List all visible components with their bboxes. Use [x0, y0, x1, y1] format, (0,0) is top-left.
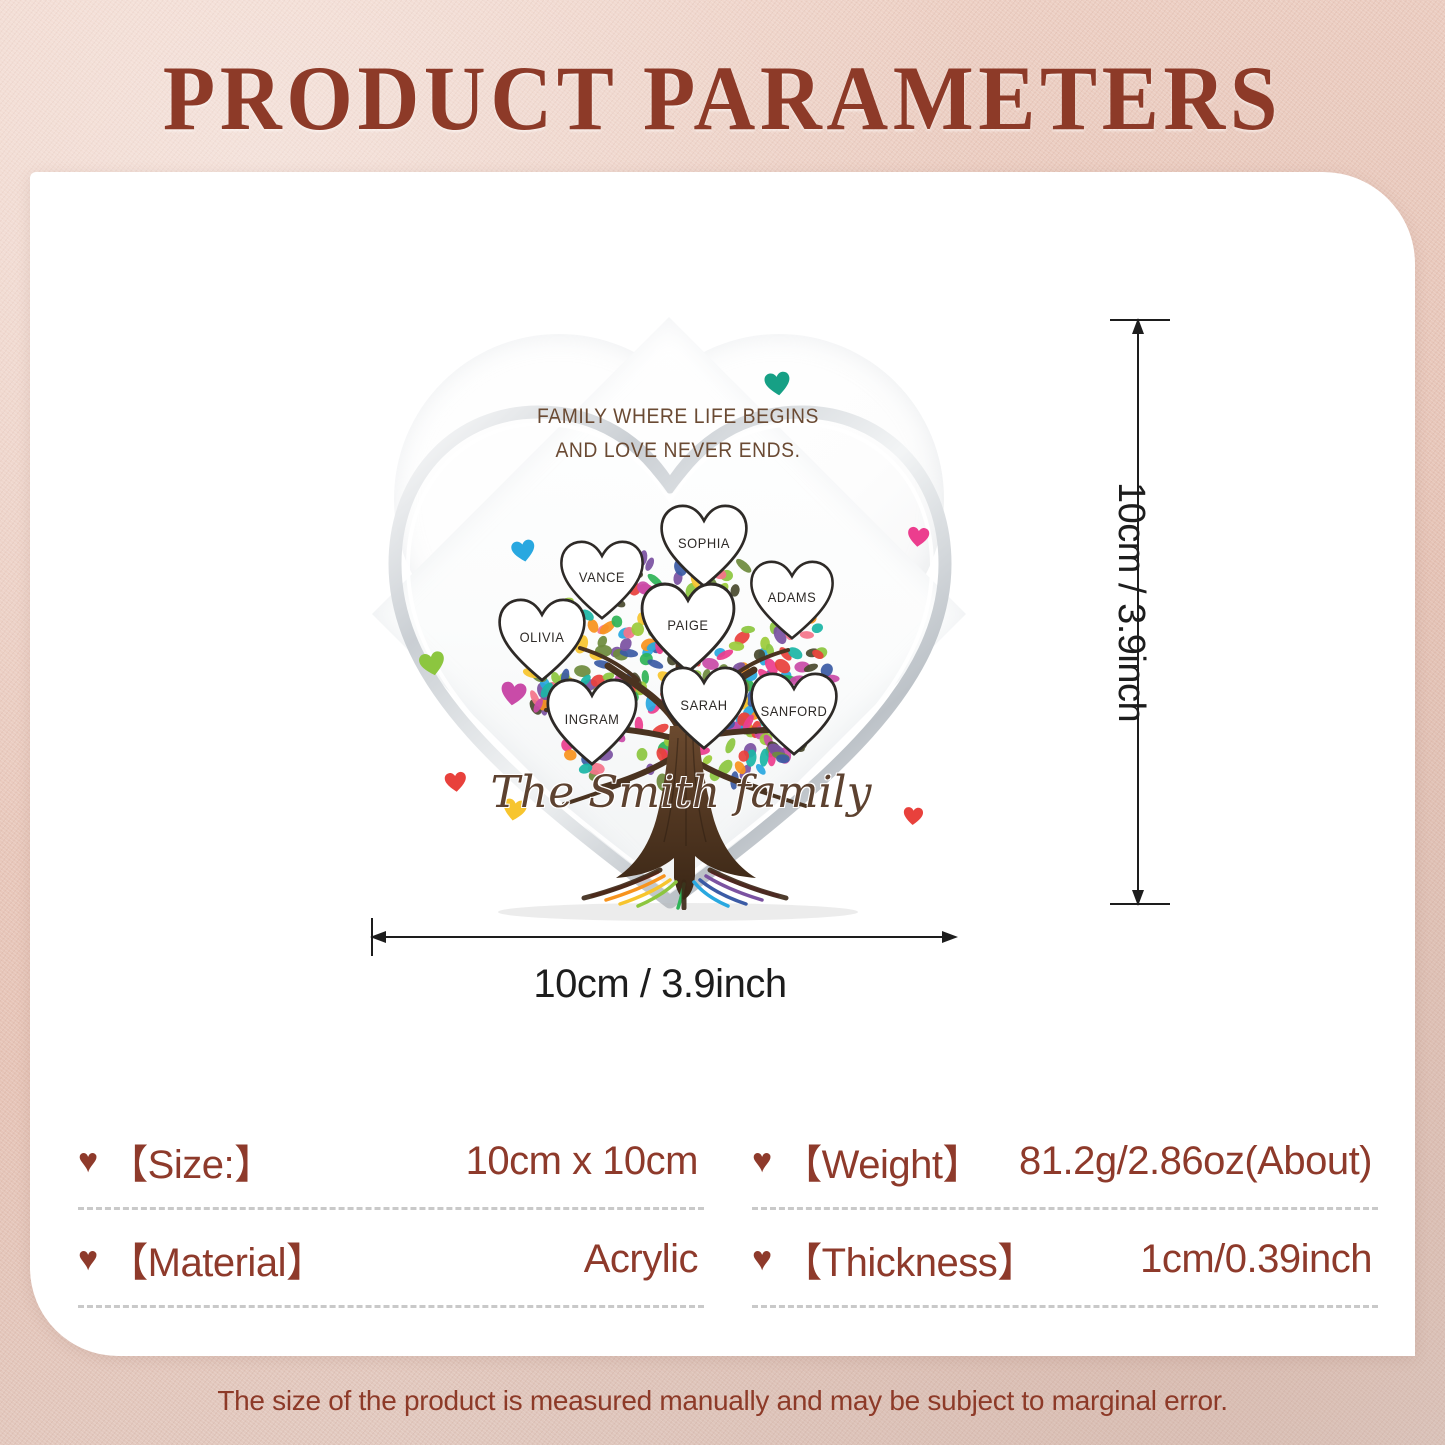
- spec-row: ♥【Weight】81.2g/2.86oz(About): [752, 1112, 1378, 1210]
- heart-bullet-icon: ♥: [752, 1242, 772, 1276]
- spec-row: ♥【Thickness】1cm/0.39inch: [752, 1210, 1378, 1308]
- name-heart-sanford: SANFORD: [750, 672, 838, 756]
- product-image-heart-plaque: FAMILY WHERE LIFE BEGINS AND LOVE NEVER …: [360, 312, 1000, 932]
- spec-value: Acrylic: [325, 1237, 704, 1282]
- name-heart-paige: PAIGE: [640, 582, 736, 674]
- name-heart-label: SARAH: [680, 697, 727, 713]
- heart-bullet-icon: ♥: [78, 1144, 98, 1178]
- family-tree-artwork: SOPHIAVANCEADAMSPAIGEOLIVIASARAHSANFORDI…: [488, 490, 878, 910]
- name-heart-label: SANFORD: [761, 703, 828, 719]
- product-spec-card: FAMILY WHERE LIFE BEGINS AND LOVE NEVER …: [30, 172, 1415, 1356]
- family-signature: The Smith family: [446, 767, 916, 819]
- name-heart-sophia: SOPHIA: [660, 504, 748, 588]
- heart-bullet-icon: ♥: [78, 1242, 98, 1276]
- page-title: PRODUCT PARAMETERS: [51, 44, 1395, 152]
- decorative-heart-icon: [906, 526, 931, 553]
- name-heart-ingram: INGRAM: [546, 678, 638, 766]
- name-heart-label: OLIVIA: [520, 629, 565, 645]
- plaque-quote-line-1: FAMILY WHERE LIFE BEGINS: [494, 400, 862, 434]
- spec-value: 10cm x 10cm: [274, 1139, 704, 1184]
- name-heart-label: PAIGE: [667, 617, 708, 633]
- spec-key: 【Size:】: [108, 1132, 273, 1190]
- spec-key: 【Material】: [108, 1230, 325, 1288]
- spec-row: ♥【Size:】10cm x 10cm: [78, 1112, 704, 1210]
- spec-value: 81.2g/2.86oz(About): [982, 1139, 1378, 1184]
- name-heart-label: ADAMS: [768, 589, 817, 605]
- name-heart-label: SOPHIA: [678, 535, 730, 551]
- spec-key: 【Thickness】: [782, 1230, 1037, 1288]
- name-heart-label: INGRAM: [565, 711, 620, 727]
- footer-disclaimer: The size of the product is measured manu…: [0, 1385, 1445, 1417]
- spec-value: 1cm/0.39inch: [1037, 1237, 1378, 1282]
- dimension-vertical: 10cm / 3.9inch: [1080, 312, 1230, 912]
- dimension-horizontal-label: 10cm / 3.9inch: [350, 962, 970, 1007]
- dimension-horizontal-line: [350, 912, 970, 962]
- specifications-table: ♥【Size:】10cm x 10cm♥【Weight】81.2g/2.86oz…: [78, 1112, 1378, 1308]
- name-heart-adams: ADAMS: [750, 560, 835, 640]
- decorative-heart-icon: [498, 680, 528, 712]
- name-heart-olivia: OLIVIA: [498, 598, 586, 682]
- plaque-quote: FAMILY WHERE LIFE BEGINS AND LOVE NEVER …: [494, 400, 862, 468]
- spec-row: ♥【Material】Acrylic: [78, 1210, 704, 1308]
- dimension-horizontal: 10cm / 3.9inch: [350, 912, 970, 1032]
- dimension-vertical-label: 10cm / 3.9inch: [1109, 482, 1152, 722]
- name-heart-label: VANCE: [579, 569, 625, 585]
- decorative-heart-icon: [763, 370, 793, 402]
- heart-bullet-icon: ♥: [752, 1144, 772, 1178]
- dimension-vertical-line: [1080, 312, 1230, 912]
- decorative-heart-icon: [510, 538, 538, 569]
- name-heart-sarah: SARAH: [660, 666, 748, 750]
- spec-key: 【Weight】: [782, 1132, 982, 1190]
- plaque-quote-line-2: AND LOVE NEVER ENDS.: [494, 434, 862, 468]
